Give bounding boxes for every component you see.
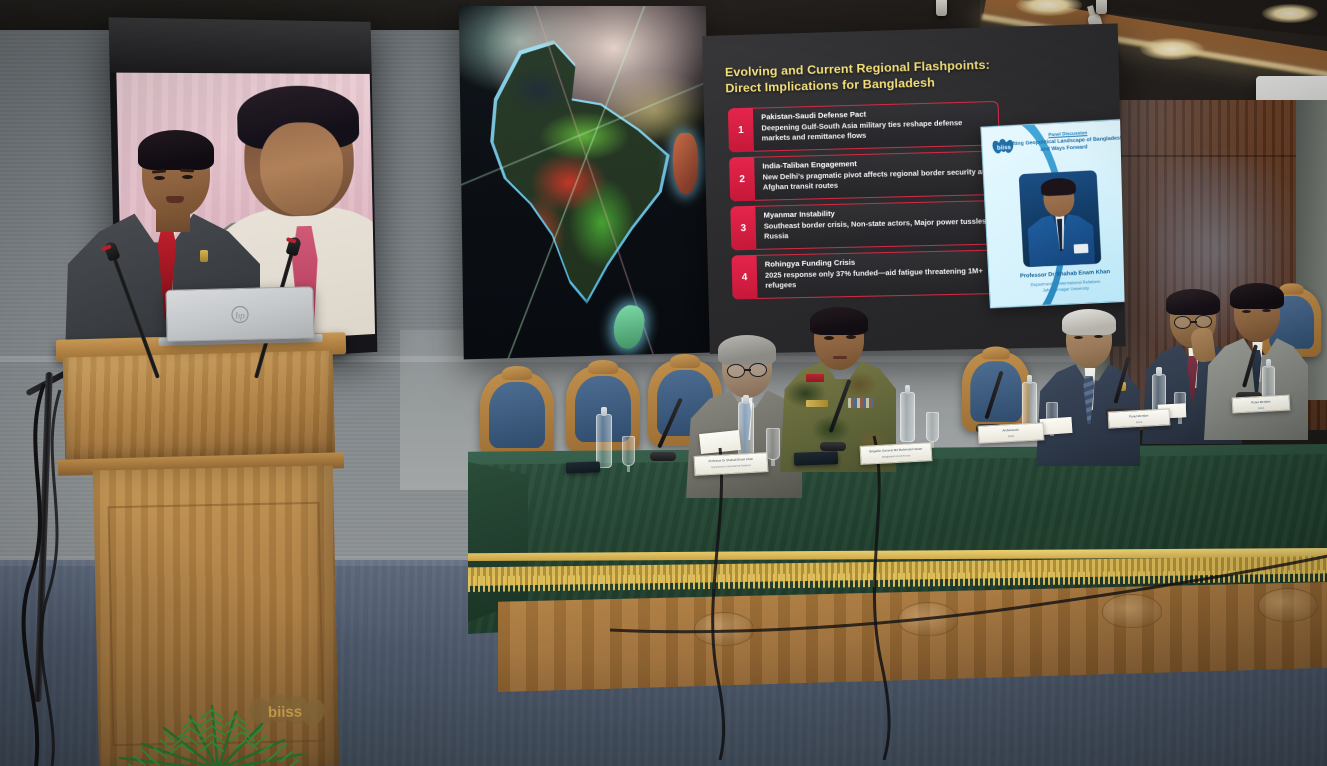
panelist-hair [1062, 309, 1116, 335]
item-number: 2 [729, 157, 755, 202]
panelist-eye [846, 335, 856, 339]
slide-list-item: 3 Myanmar Instability Southeast border c… [730, 200, 1002, 251]
nameplate: Panel Member BIISS [1108, 408, 1171, 428]
slide-flashpoint-list: 1 Pakistan-Saudi Defense Pact Deepening … [728, 101, 1004, 305]
photo-pocket-card [1074, 244, 1089, 254]
panelist-hair [1230, 283, 1284, 309]
podium-upper-face [63, 350, 336, 465]
projection-screen-slide: Evolving and Current Regional Flashpoint… [702, 23, 1126, 354]
track-spotlight [1096, 0, 1107, 14]
hp-wordmark: hp [235, 311, 245, 321]
nameplate: Panel Member BIISS [1232, 394, 1291, 413]
potted-palm-plant [86, 690, 356, 766]
speaker-eye [182, 175, 193, 179]
uniform-ribbons [848, 398, 874, 408]
nameplate: Ambassador BIISS [978, 422, 1045, 443]
map-eastern-landmass [672, 133, 698, 195]
panelist-glasses [749, 363, 767, 377]
panelist-eye [1262, 309, 1271, 312]
slide-speaker-card: biiss Panel Discussion Shifting Geopolit… [980, 119, 1125, 309]
speaker-mouth [166, 196, 184, 203]
panelist-eye [1242, 310, 1251, 313]
item-body: Southeast border crisis, Non-state actor… [764, 217, 995, 242]
nameplate: Professor Dr Shahab Enam Khan Department… [694, 452, 769, 476]
map-border-lines [459, 6, 711, 359]
chair-crest [502, 366, 532, 380]
panelist-mouth [833, 356, 847, 359]
slide-list-item: 4 Rohingya Funding Crisis 2025 response … [731, 249, 1003, 299]
item-number: 1 [728, 108, 754, 153]
item-body: 2025 response only 37% funded—aid fatigu… [765, 266, 996, 291]
nameplate: Brigadier General Md Mahmudul Hasan Bang… [860, 442, 933, 465]
panelist-hair [1166, 289, 1220, 315]
panelist-eye [1094, 335, 1103, 338]
slide-list-item: 1 Pakistan-Saudi Defense Pact Deepening … [728, 101, 1000, 153]
track-spotlight [936, 0, 947, 16]
chair-crest [588, 360, 618, 374]
panelist-hair [718, 335, 776, 365]
rank-insignia [806, 374, 824, 382]
glasses-bridge [744, 369, 751, 371]
panelist-eye [1074, 336, 1083, 339]
card-university-line: Jahangirnagar University [1042, 285, 1089, 292]
speaker-lapel-pin [200, 250, 208, 262]
ceiling-downlight [1262, 4, 1318, 23]
speaker-hair [138, 130, 214, 170]
speaker-eye [154, 176, 165, 180]
panelist-hair [810, 307, 868, 335]
projection-screen-map [459, 6, 711, 359]
chair-crest [982, 346, 1010, 359]
card-speaker-photo [1019, 170, 1102, 267]
screen-bezel [109, 17, 372, 74]
panelist-glasses [1195, 315, 1212, 328]
chair-crest [670, 354, 700, 368]
panelist-glasses [1174, 316, 1191, 329]
item-number: 4 [731, 255, 757, 300]
laptop-lid: hp [165, 286, 314, 342]
glasses-bridge [1190, 321, 1197, 323]
wood-panel-seam [1110, 155, 1327, 157]
conference-hall-photo: Evolving and Current Regional Flashpoint… [0, 0, 1327, 766]
audio-cable [470, 430, 1327, 760]
microphone-ring [286, 237, 297, 244]
panelist-glasses [727, 364, 745, 378]
panelist-eye [824, 336, 834, 340]
item-number: 3 [730, 206, 756, 251]
ceiling-downlight [1140, 38, 1204, 60]
hp-logo-icon: hp [227, 306, 253, 325]
presenter-laptop[interactable]: hp [165, 286, 314, 342]
photo-hair [1040, 177, 1076, 196]
uniform-nametape [806, 400, 828, 407]
slide-list-item: 2 India-Taliban Engagement New Delhi's p… [729, 150, 1001, 201]
